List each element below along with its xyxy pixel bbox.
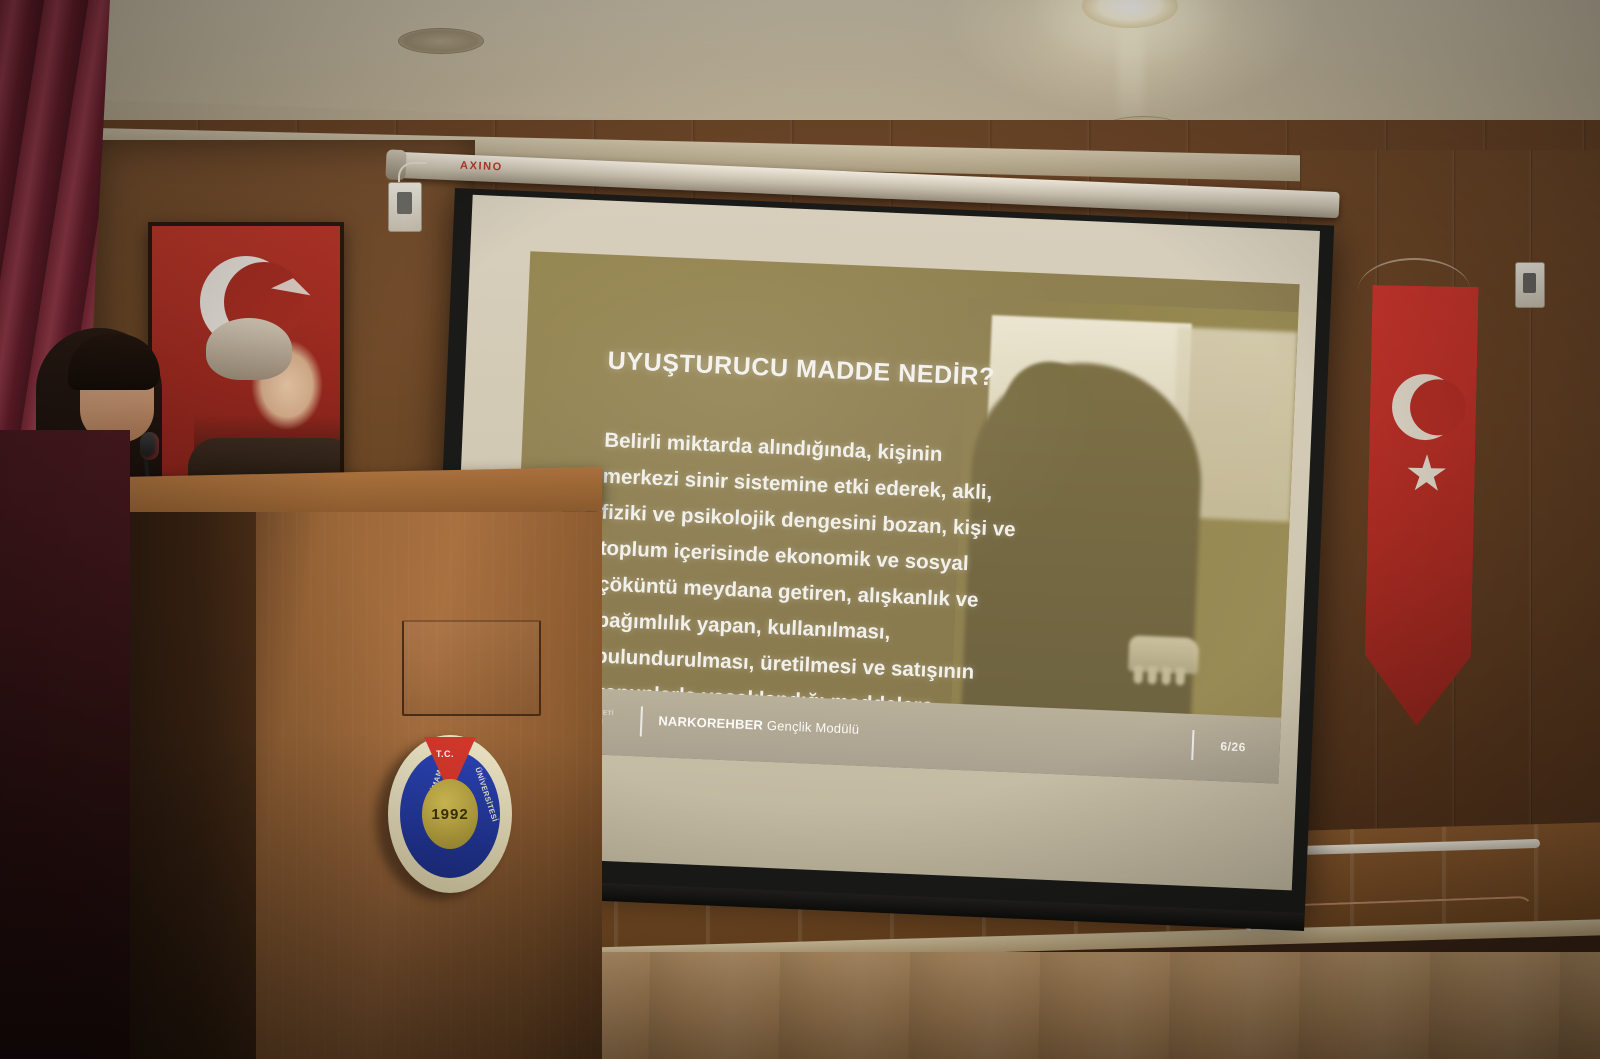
housing-brand-label: AXINO [460,160,503,174]
ataturk-hair [206,318,292,380]
lectern-inset-panel [402,620,541,716]
turkish-pennant-banner [1363,285,1478,727]
star-icon [1406,454,1447,495]
screen-control-switch[interactable] [388,182,422,232]
emblem-tc-label: T.C. [436,749,454,759]
photo-hand [1128,635,1199,674]
slide-page-indicator: 6/26 [1220,739,1246,754]
crescent-icon [1391,373,1458,440]
speaker-hair-front [68,334,160,390]
conference-hall-photo: AXINO UYUŞTURUCU MADDE NEDİR? [0,0,1600,1059]
footer-divider [1191,730,1194,760]
switch-rocker-icon [397,192,412,214]
ataturk-figure [194,318,340,486]
switch-rocker-icon [1523,273,1536,293]
university-emblem: SÜTÇÜ İMAM ÜNİVERSİTESİ T.C. 1992 [388,735,516,895]
emblem-center-disc: 1992 [422,779,478,849]
ceiling-downlight-icon [398,28,484,54]
presentation-slide: UYUŞTURUCU MADDE NEDİR? Belirli miktarda… [509,251,1300,783]
lectern [72,512,602,1059]
footer-program-rest: Gençlik Modülü [767,718,860,737]
curtain-shadow [0,430,130,1059]
wall-switch-right[interactable] [1515,262,1545,308]
emblem-year: 1992 [431,806,468,823]
footer-program-bold: NARKOREHBER [658,713,763,732]
microphone-icon [140,432,159,460]
footer-program-label: NARKOREHBER Gençlik Modülü [658,713,859,737]
footer-divider [640,706,643,736]
